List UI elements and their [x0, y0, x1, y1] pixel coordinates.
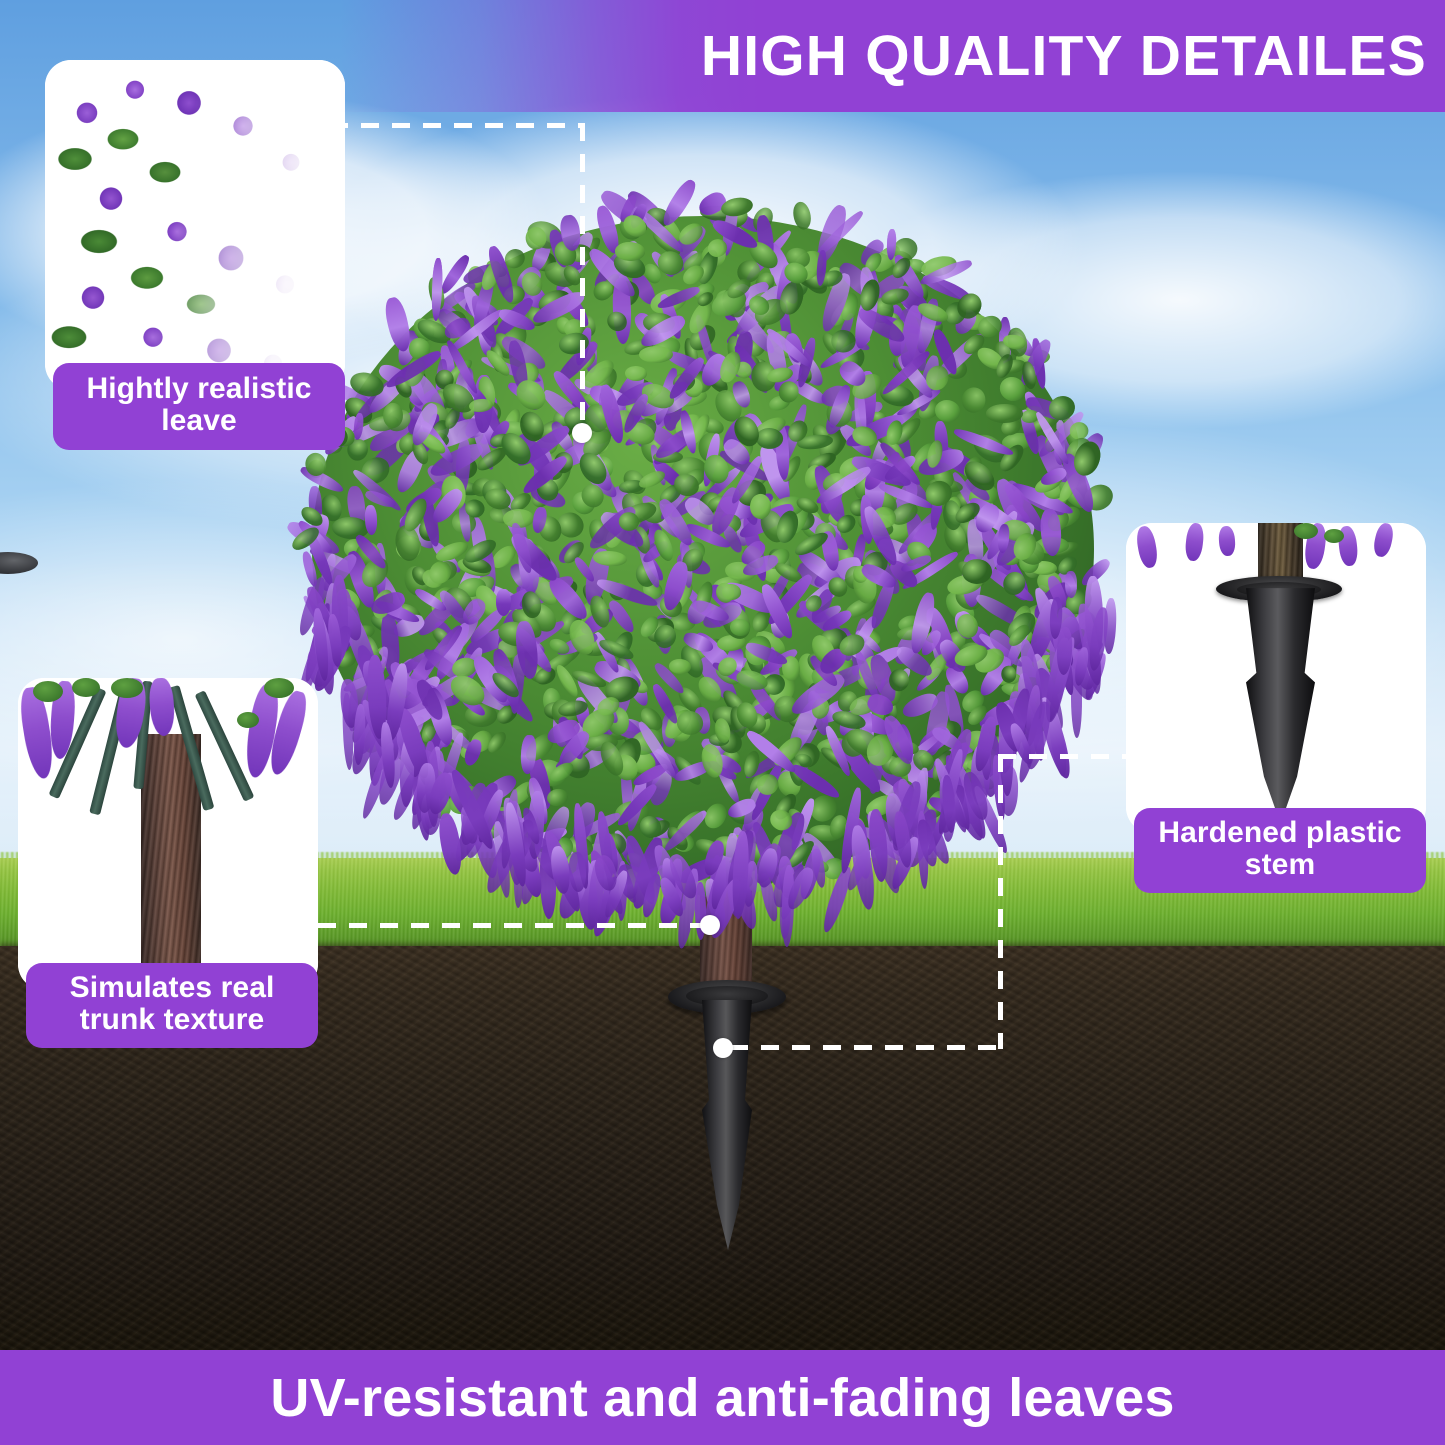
callout-card-stem[interactable]: Hardened plastic stem — [1126, 523, 1426, 893]
stem-connector-bottom — [730, 1045, 1000, 1050]
stem-connector-vertical — [998, 754, 1003, 1049]
trunk-anchor-dot — [700, 915, 720, 935]
leaf-anchor-dot — [572, 423, 592, 443]
trunk-label: Simulates real trunk texture — [26, 963, 318, 1048]
closeup-tree-trunk-image — [18, 678, 318, 990]
header-banner: HIGH QUALITY DETAILES — [0, 0, 1445, 112]
stem-label: Hardened plastic stem — [1134, 808, 1426, 893]
footer-banner: UV-resistant and anti-fading leaves — [0, 1350, 1445, 1445]
leaf-connector-horizontal — [330, 123, 585, 128]
trunk-macro-leaf — [111, 678, 143, 698]
footer-title: UV-resistant and anti-fading leaves — [270, 1367, 1174, 1429]
stem-macro-leaf — [1294, 523, 1318, 539]
trunk-macro-leaf — [33, 681, 63, 702]
callout-card-trunk[interactable]: Simulates real trunk texture — [18, 678, 318, 1048]
stem-macro-flower — [1134, 525, 1159, 569]
stem-photo — [1126, 523, 1426, 833]
trunk-macro-leaf — [72, 678, 100, 697]
callout-card-leaf[interactable]: Hightly realistic leave — [45, 60, 345, 450]
stem-connector-top — [998, 754, 1130, 759]
stem-macro-flower — [1218, 526, 1236, 557]
leaf-connector-vertical — [580, 123, 585, 435]
stem-macro-spike — [1246, 588, 1315, 824]
stem-macro-flower — [1184, 523, 1205, 562]
trunk-photo — [18, 678, 318, 990]
stem-macro-flower — [1372, 523, 1396, 558]
leaf-label: Hightly realistic leave — [53, 363, 345, 450]
infographic-stage: Hightly realistic leave — [0, 0, 1445, 1445]
header-title: HIGH QUALITY DETAILES — [701, 23, 1445, 89]
stem-anchor-dot — [713, 1038, 733, 1058]
trunk-macro-leaf — [264, 678, 294, 698]
trunk-connector-horizontal — [318, 923, 716, 928]
closeup-plastic-ground-stake-image — [1126, 523, 1426, 833]
